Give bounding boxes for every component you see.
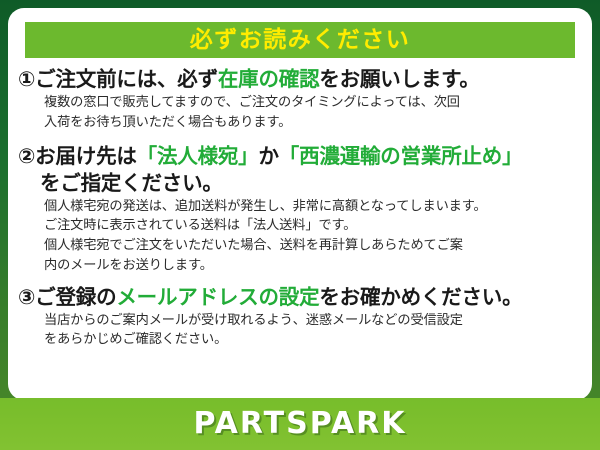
notice-list: ①ご注文前には、必ず在庫の確認をお願いします。 複数の窓口で販売してますので、ご… — [8, 66, 592, 352]
notice-item-3-heading-post: をお確かめください。 — [319, 285, 522, 309]
notice-item-3-sub-line-1: 当店からのご案内メールが受け取れるよう、迷惑メールなどの受信設定 — [18, 312, 582, 331]
banner-title: 必ずお読みください — [190, 29, 411, 52]
notice-item-1-sub-line-1: 複数の窓口で販売してますので、ご注文のタイミングによっては、次回 — [18, 94, 582, 113]
notice-item-1-heading-post: をお願いします。 — [319, 67, 479, 91]
notice-item-2-sub-line-3: 個人様宅宛でご注文をいただいた場合、送料を再計算しあらためてご案 — [18, 237, 582, 256]
notice-item-3-heading: ③ご登録のメールアドレスの設定をお確かめください。 — [18, 284, 582, 311]
notice-item-2-marker: ② — [18, 144, 35, 168]
notice-item-1-marker: ① — [18, 67, 35, 91]
notice-item-3-heading-pre: ご登録の — [35, 285, 116, 309]
title-banner: 必ずお読みください — [25, 22, 575, 58]
notice-item-2: ②お届け先は「法人様宛」か「西濃運輸の営業所止め」をご指定ください。 個人様宅宛… — [18, 143, 582, 276]
notice-item-2-heading: ②お届け先は「法人様宛」か「西濃運輸の営業所止め」をご指定ください。 — [18, 143, 582, 197]
notice-item-2-heading-emphasis-1: 「法人様宛」 — [137, 144, 259, 168]
notice-item-2-heading-mid: か — [258, 144, 278, 168]
notice-item-1: ①ご注文前には、必ず在庫の確認をお願いします。 複数の窓口で販売してますので、ご… — [18, 66, 582, 133]
notice-item-2-heading-emphasis-2: 「西濃運輸の営業所止め」 — [279, 144, 523, 168]
notice-item-2-heading-line-2: をご指定ください。 — [18, 170, 582, 197]
notice-item-1-heading-pre: ご注文前には、必ず — [35, 67, 218, 91]
content-panel: 必ずお読みください ①ご注文前には、必ず在庫の確認をお願いします。 複数の窓口で… — [8, 8, 592, 400]
notice-item-3-heading-emphasis: メールアドレスの設定 — [116, 285, 319, 309]
notice-item-1-sub-line-2: 入荷をお待ち頂いただく場合もあります。 — [18, 114, 582, 133]
notice-item-2-sub-line-2: ご注文時に表示されている送料は「法人送料」です。 — [18, 217, 582, 236]
notice-item-3: ③ご登録のメールアドレスの設定をお確かめください。 当店からのご案内メールが受け… — [18, 284, 582, 351]
notice-item-1-heading: ①ご注文前には、必ず在庫の確認をお願いします。 — [18, 66, 582, 93]
notice-item-3-marker: ③ — [18, 285, 35, 309]
brand-name: PARTSPARK — [193, 409, 406, 439]
notice-item-3-sub-line-2: をあらかじめご確認ください。 — [18, 331, 582, 350]
notice-item-2-sub-line-1: 個人様宅宛の発送は、追加送料が発生し、非常に高額となってしまいます。 — [18, 198, 582, 217]
notice-item-1-heading-emphasis: 在庫の確認 — [218, 67, 320, 91]
notice-item-2-sub-line-4: 内のメールをお送りします。 — [18, 257, 582, 276]
notice-screen: 必ずお読みください ①ご注文前には、必ず在庫の確認をお願いします。 複数の窓口で… — [0, 0, 600, 450]
brand-footer: PARTSPARK — [0, 398, 600, 450]
notice-item-2-heading-pre: お届け先は — [35, 144, 137, 168]
